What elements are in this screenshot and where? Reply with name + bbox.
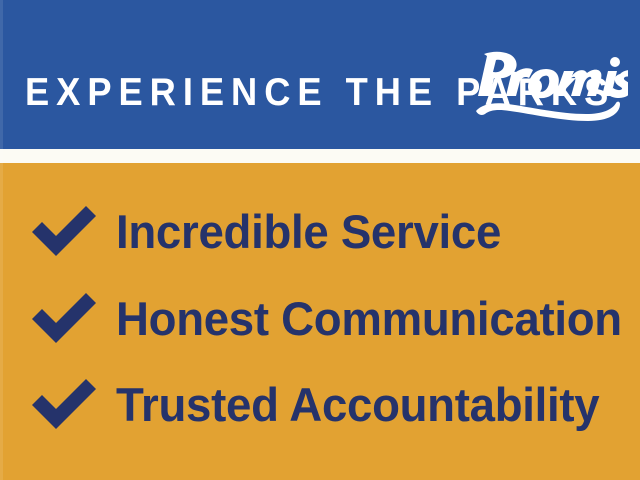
promise-label: Incredible Service: [116, 206, 501, 258]
list-item: Honest Communication: [0, 288, 640, 350]
promise-label: Honest Communication: [116, 293, 622, 345]
separator-stripe: [0, 149, 640, 163]
checkmark-icon: [30, 291, 98, 347]
list-item: Incredible Service: [0, 201, 640, 263]
experience-the-parks-promise-poster: EXPERIENCE THE PARKS: [0, 0, 640, 480]
promise-label: Trusted Accountability: [116, 379, 599, 431]
list-item: Trusted Accountability: [0, 374, 640, 436]
checkmark-icon: [30, 377, 98, 433]
promise-script-word: [468, 44, 628, 122]
promise-list: Incredible Service Honest Communication …: [0, 163, 640, 480]
checkmark-icon: [30, 204, 98, 260]
